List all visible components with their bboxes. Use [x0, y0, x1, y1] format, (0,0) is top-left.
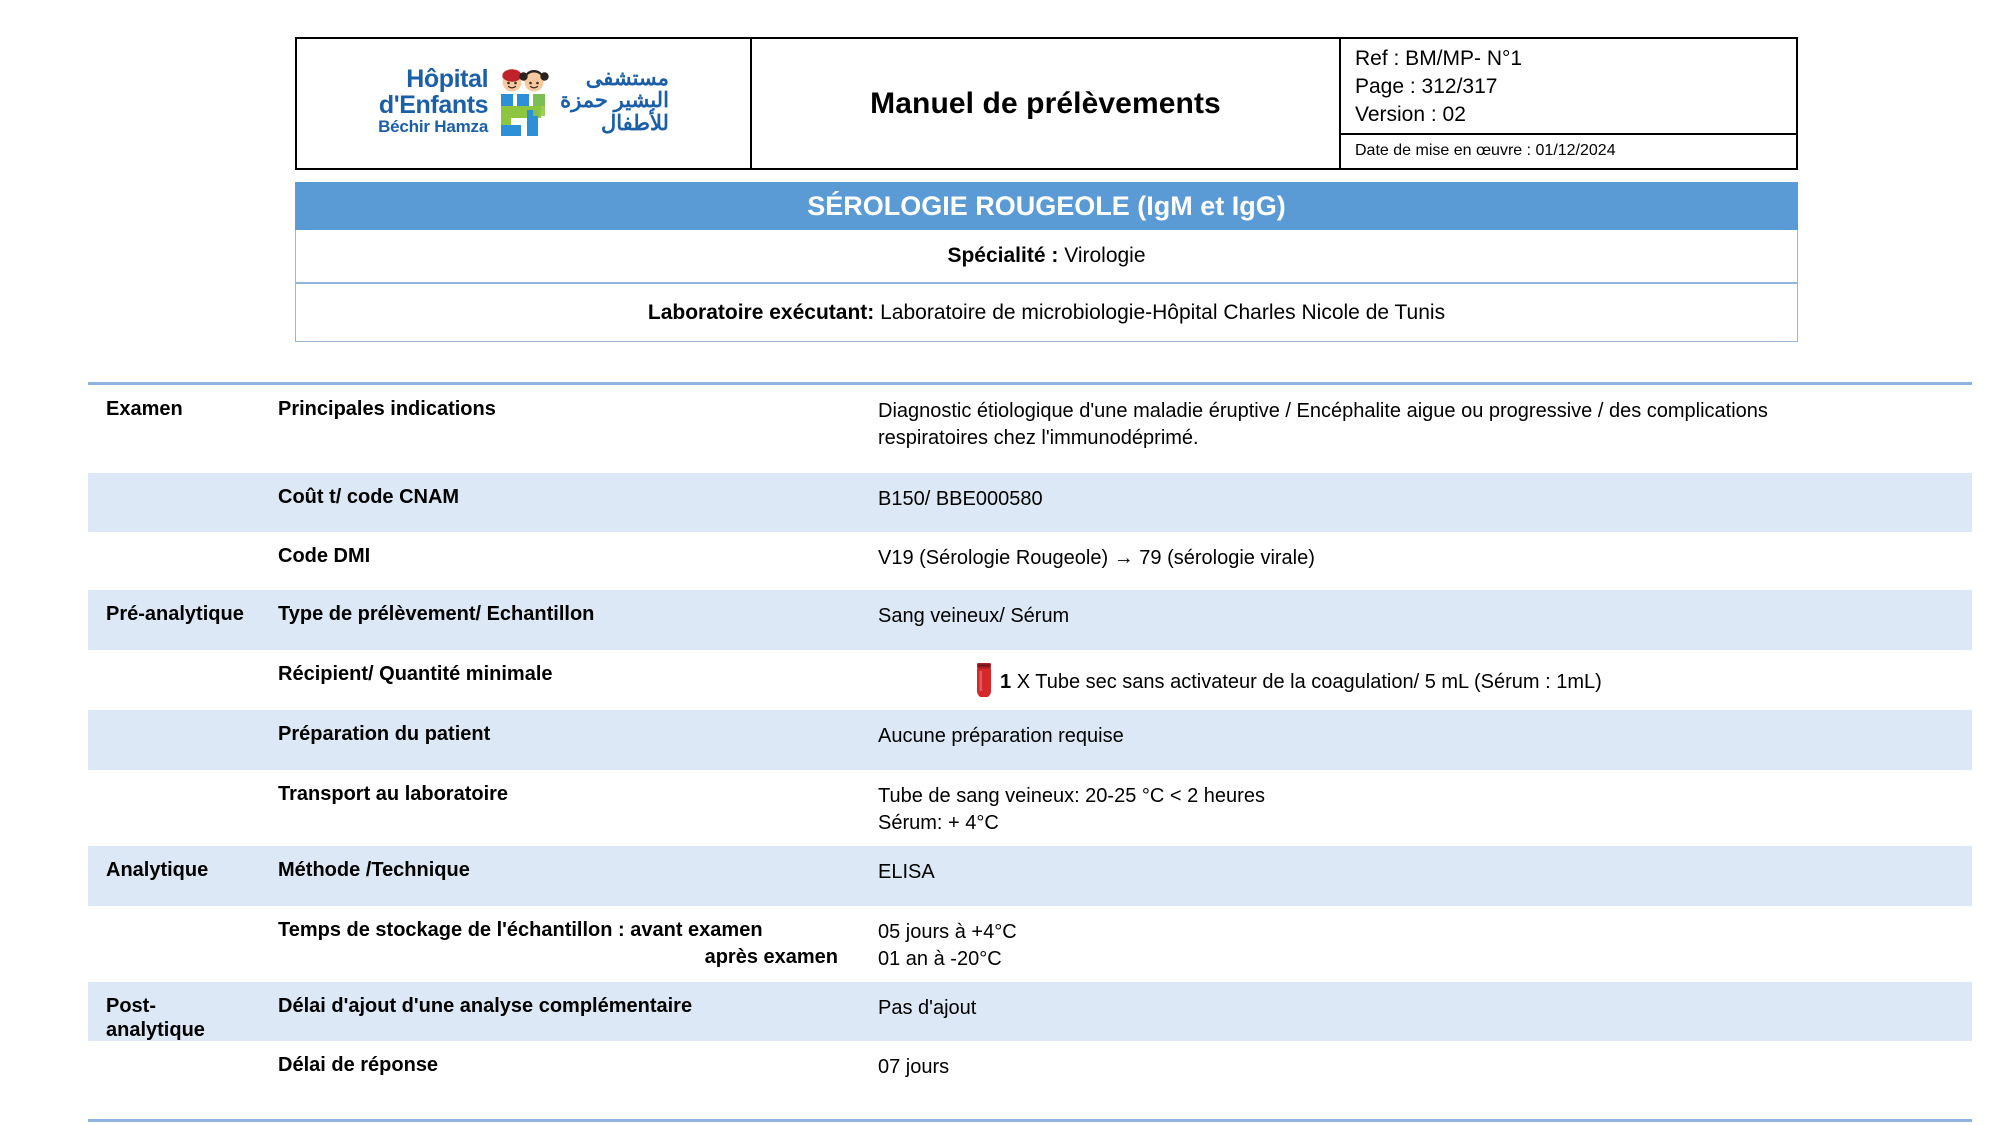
section-label-empty — [88, 770, 260, 846]
section-label-pre-analytique: Pré-analytique — [88, 590, 260, 650]
table-row: Transport au laboratoire Tube de sang ve… — [88, 770, 1972, 846]
document-header-table: Hôpital d'Enfants Béchir Hamza — [295, 37, 1798, 170]
section-label-analytique: Analytique — [88, 846, 260, 906]
specialite-label: Spécialité : — [947, 244, 1058, 267]
document-title: Manuel de prélèvements — [870, 87, 1221, 121]
row-value-line: Aucune préparation requise — [878, 723, 1972, 750]
table-row: Pré-analytique Type de prélèvement/ Echa… — [88, 590, 1972, 650]
row-value-line: V19 (Sérologie Rougeole) → 79 (sérologie… — [878, 545, 1972, 572]
specialite-text: Spécialité : Virologie — [947, 244, 1145, 268]
row-value: V19 (Sérologie Rougeole) → 79 (sérologie… — [860, 532, 1972, 590]
section-label-empty — [88, 473, 260, 532]
table-row: Temps de stockage de l'échantillon : ava… — [88, 906, 1972, 982]
section-label-examen: Examen — [88, 385, 260, 473]
section-label-empty — [88, 532, 260, 590]
row-value-line: Pas d'ajout — [878, 995, 1972, 1022]
logo-arabic-line-3: للأطفال — [560, 113, 669, 135]
row-value: 05 jours à +4°C 01 an à -20°C — [860, 906, 1972, 982]
row-value: Pas d'ajout — [860, 982, 1972, 1041]
doc-version: Version : 02 — [1355, 101, 1796, 129]
table-row: Coût t/ code CNAM B150/ BBE000580 — [88, 473, 1972, 532]
laboratoire-value: Laboratoire de microbiologie-Hôpital Cha… — [880, 301, 1445, 324]
exam-title-banner: SÉROLOGIE ROUGEOLE (IgM et IgG) — [295, 182, 1798, 230]
row-label-line1: Temps de stockage de l'échantillon : ava… — [278, 919, 763, 941]
laboratoire-text: Laboratoire exécutant: Laboratoire de mi… — [648, 301, 1445, 325]
row-value-line: Tube de sang veineux: 20-25 °C < 2 heure… — [878, 783, 1972, 810]
row-value: Sang veineux/ Sérum — [860, 590, 1972, 650]
logo-arabic-line-2: البشير حمزة — [560, 90, 669, 112]
row-label-line2: après examen — [278, 946, 860, 969]
table-row: Post- analytique Délai d'ajout d'une ana… — [88, 982, 1972, 1041]
doc-effective-date: Date de mise en œuvre : 01/12/2024 — [1355, 142, 1616, 160]
logo-arabic-line-1: مستشفى — [560, 68, 669, 90]
exam-details-table: Examen Principales indications Diagnosti… — [88, 382, 1972, 1122]
row-label: Méthode /Technique — [260, 846, 860, 906]
exam-banner-block: SÉROLOGIE ROUGEOLE (IgM et IgG) Spéciali… — [295, 182, 1798, 342]
row-label: Principales indications — [260, 385, 860, 473]
logo-line-3: Béchir Hamza — [378, 118, 488, 135]
row-value-line: B150/ BBE000580 — [878, 486, 1972, 513]
hospital-logo: Hôpital d'Enfants Béchir Hamza — [378, 65, 669, 139]
logo-arabic-text: مستشفى البشير حمزة للأطفال — [560, 68, 669, 135]
row-label: Code DMI — [260, 532, 860, 590]
row-value-line: 01 an à -20°C — [878, 946, 1972, 973]
row-value-line: 07 jours — [878, 1054, 1972, 1081]
table-row: Délai de réponse 07 jours — [88, 1041, 1972, 1119]
row-value-line: Sérum: + 4°C — [878, 810, 1972, 837]
row-value-line: X Tube sec sans activateur de la coagula… — [1017, 671, 1602, 693]
row-label: Préparation du patient — [260, 710, 860, 770]
logo-line-1: Hôpital — [378, 67, 488, 93]
row-value-quantity: 1 — [1000, 669, 1011, 696]
row-value-line: respiratoires chez l'immunodéprimé. — [878, 425, 1972, 452]
table-row: Analytique Méthode /Technique ELISA — [88, 846, 1972, 906]
specialite-value: Virologie — [1064, 244, 1145, 267]
row-label: Délai de réponse — [260, 1041, 860, 1119]
logo-french-text: Hôpital d'Enfants Béchir Hamza — [378, 67, 488, 135]
hospital-children-logo-icon — [493, 65, 555, 139]
row-label: Temps de stockage de l'échantillon : ava… — [260, 906, 860, 982]
row-label: Transport au laboratoire — [260, 770, 860, 846]
row-label: Récipient/ Quantité minimale — [260, 650, 860, 710]
section-label-post-analytique: Post- analytique — [88, 982, 260, 1041]
table-row: Code DMI V19 (Sérologie Rougeole) → 79 (… — [88, 532, 1972, 590]
row-label: Type de prélèvement/ Echantillon — [260, 590, 860, 650]
doc-page: Page : 312/317 — [1355, 73, 1796, 101]
row-value: 1 X Tube sec sans activateur de la coagu… — [860, 650, 1972, 710]
row-label: Coût t/ code CNAM — [260, 473, 860, 532]
section-label-empty — [88, 906, 260, 982]
document-meta-top: Ref : BM/MP- N°1 Page : 312/317 Version … — [1341, 39, 1796, 135]
row-value-line: 05 jours à +4°C — [878, 919, 1972, 946]
row-value: Diagnostic étiologique d'une maladie éru… — [860, 385, 1972, 473]
specialite-row: Spécialité : Virologie — [295, 230, 1798, 284]
blood-collection-tube-icon — [975, 663, 993, 697]
row-value: Aucune préparation requise — [860, 710, 1972, 770]
doc-ref: Ref : BM/MP- N°1 — [1355, 45, 1796, 73]
section-label-empty — [88, 710, 260, 770]
row-value-line: Sang veineux/ Sérum — [878, 603, 1972, 630]
table-row: Récipient/ Quantité minimale 1 X Tube se… — [88, 650, 1972, 710]
table-row: Préparation du patient Aucune préparatio… — [88, 710, 1972, 770]
exam-title: SÉROLOGIE ROUGEOLE (IgM et IgG) — [807, 191, 1286, 222]
logo-cell: Hôpital d'Enfants Béchir Hamza — [297, 39, 752, 168]
laboratoire-row: Laboratoire exécutant: Laboratoire de mi… — [295, 284, 1798, 342]
row-value-line: Diagnostic étiologique d'une maladie éru… — [878, 398, 1972, 425]
row-label: Délai d'ajout d'une analyse complémentai… — [260, 982, 860, 1041]
logo-line-2: d'Enfants — [378, 93, 488, 119]
document-meta-bottom: Date de mise en œuvre : 01/12/2024 — [1341, 135, 1796, 168]
laboratoire-label: Laboratoire exécutant: — [648, 301, 874, 324]
document-meta-cell: Ref : BM/MP- N°1 Page : 312/317 Version … — [1341, 39, 1796, 168]
section-label-empty — [88, 1041, 260, 1119]
row-value: 07 jours — [860, 1041, 1972, 1119]
section-label-empty — [88, 650, 260, 710]
row-value: B150/ BBE000580 — [860, 473, 1972, 532]
row-value: ELISA — [860, 846, 1972, 906]
row-value: Tube de sang veineux: 20-25 °C < 2 heure… — [860, 770, 1972, 846]
document-title-cell: Manuel de prélèvements — [752, 39, 1341, 168]
row-value-line: ELISA — [878, 859, 1972, 886]
table-row: Examen Principales indications Diagnosti… — [88, 385, 1972, 473]
